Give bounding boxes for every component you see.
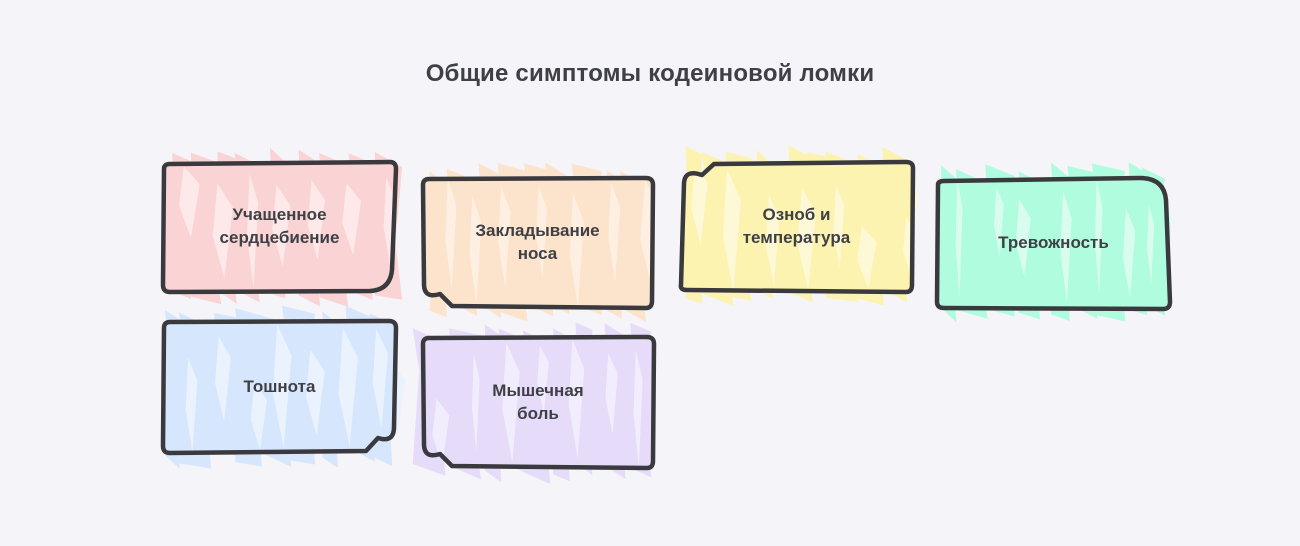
card-shape — [163, 162, 396, 292]
symptom-card[interactable]: Закладывание носа — [422, 178, 653, 308]
card-fill — [153, 306, 406, 468]
card-shape — [422, 178, 653, 308]
card-fill — [153, 148, 406, 308]
card-fill — [412, 321, 664, 483]
symptom-card[interactable]: Учащенное сердцебиение — [163, 162, 396, 292]
card-shape — [680, 161, 913, 292]
symptom-card-grid: Учащенное сердцебиениеЗакладывание носаО… — [0, 0, 1300, 546]
card-shape — [422, 337, 654, 468]
symptom-card[interactable]: Тревожность — [937, 178, 1170, 309]
card-fill — [412, 163, 663, 323]
card-shape — [163, 321, 396, 453]
card-fill — [927, 163, 1180, 324]
card-shape — [937, 178, 1170, 309]
symptom-card[interactable]: Тошнота — [163, 321, 396, 453]
symptom-card[interactable]: Озноб и температура — [680, 161, 913, 292]
symptom-card[interactable]: Мышечная боль — [422, 337, 654, 468]
